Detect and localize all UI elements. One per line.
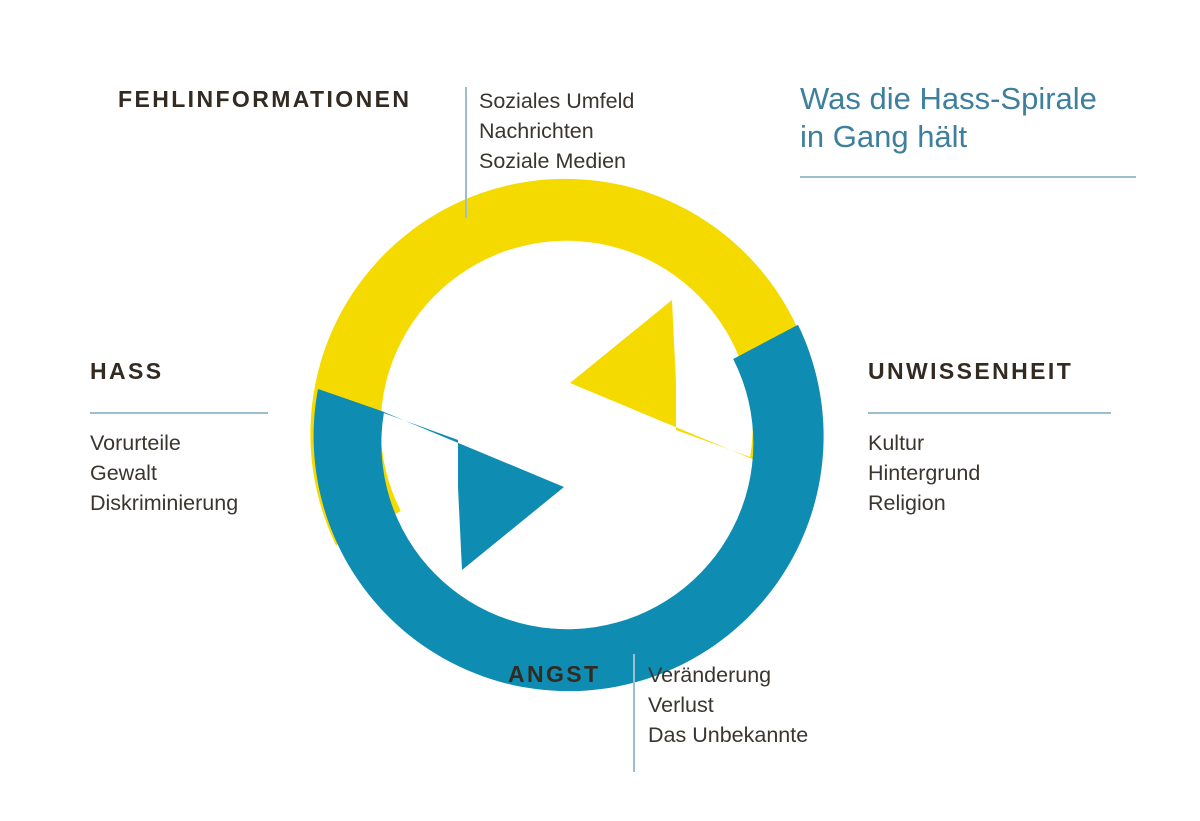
hass-divider xyxy=(90,412,268,414)
list-item: Nachrichten xyxy=(479,116,634,146)
list-item: Kultur xyxy=(868,428,980,458)
page-title: Was die Hass-Spirale in Gang hält xyxy=(800,80,1140,156)
blue-arrow xyxy=(314,325,824,691)
unwissenheit-items: Kultur Hintergrund Religion xyxy=(868,428,980,518)
angst-items: Veränderung Verlust Das Unbekannte xyxy=(648,660,808,750)
yellow-arrowhead xyxy=(570,300,676,383)
blue-arrow-arc xyxy=(314,325,824,691)
list-item: Diskriminierung xyxy=(90,488,238,518)
list-item: Soziales Umfeld xyxy=(479,86,634,116)
list-item: Vorurteile xyxy=(90,428,238,458)
list-item: Hintergrund xyxy=(868,458,980,488)
list-item: Soziale Medien xyxy=(479,146,634,176)
hass-heading: HASS xyxy=(90,360,164,383)
fehlinformationen-heading: FEHLINFORMATIONEN xyxy=(118,88,411,111)
blue-arrowhead xyxy=(458,487,564,570)
infographic-canvas: FEHLINFORMATIONEN Soziales Umfeld Nachri… xyxy=(0,0,1200,821)
list-item: Gewalt xyxy=(90,458,238,488)
yellow-arrow-arc xyxy=(310,179,820,545)
page-title-line1: Was die Hass-Spirale xyxy=(800,80,1140,118)
blue-arrow-joint xyxy=(318,389,564,487)
angst-heading: ANGST xyxy=(508,663,601,686)
list-item: Religion xyxy=(868,488,980,518)
fehlinformationen-divider xyxy=(465,87,467,218)
fehlinformationen-items: Soziales Umfeld Nachrichten Soziale Medi… xyxy=(479,86,634,176)
list-item: Verlust xyxy=(648,690,808,720)
unwissenheit-divider xyxy=(868,412,1111,414)
page-title-underline xyxy=(800,176,1136,178)
angst-divider xyxy=(633,654,635,772)
unwissenheit-heading: UNWISSENHEIT xyxy=(868,360,1073,383)
hass-items: Vorurteile Gewalt Diskriminierung xyxy=(90,428,238,518)
page-title-line2: in Gang hält xyxy=(800,118,1140,156)
yellow-arrow xyxy=(310,179,820,545)
list-item: Das Unbekannte xyxy=(648,720,808,750)
yellow-arrow-joint xyxy=(570,383,816,481)
list-item: Veränderung xyxy=(648,660,808,690)
